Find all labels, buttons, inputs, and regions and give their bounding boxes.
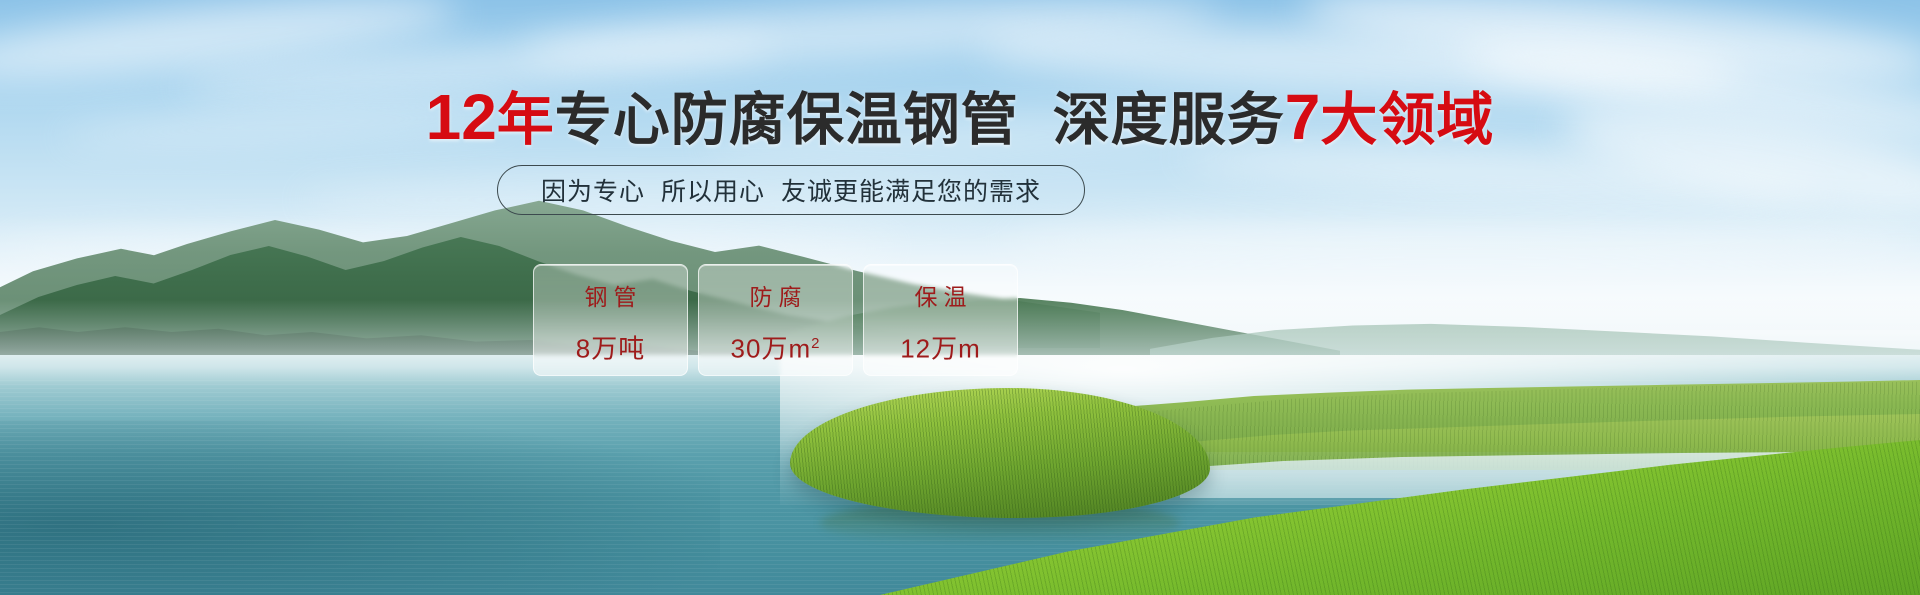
subtitle-pill: 因为专心所以用心友诚更能满足您的需求	[497, 165, 1085, 215]
headline-service-text: 深度服务	[1053, 88, 1285, 152]
subtitle-part-2: 所以用心	[661, 172, 765, 208]
stat-card-value-superscript: 2	[811, 335, 820, 352]
stat-card-value-text: 8万吨	[576, 334, 645, 364]
headline-fields-text: 大领域	[1320, 88, 1494, 152]
headline-years-number: 12	[426, 81, 497, 153]
stat-card-anticorrosion: 防腐 30万m2	[698, 264, 853, 376]
headline-years-unit: 年	[497, 88, 555, 152]
headline-fields-number: 7	[1285, 81, 1321, 153]
subtitle-part-3: 友诚更能满足您的需求	[781, 172, 1041, 208]
hero-banner: 12年专心防腐保温钢管深度服务7大领域 因为专心所以用心友诚更能满足您的需求 钢…	[0, 0, 1920, 595]
headline-main-text: 专心防腐保温钢管	[555, 88, 1019, 152]
stat-card-insulation: 保温 12万m	[863, 264, 1018, 376]
stat-card-value-text: 30万m	[731, 334, 812, 364]
stat-card-value: 12万m	[900, 329, 981, 364]
stat-card-steel-pipe: 钢管 8万吨	[533, 264, 688, 376]
banner-headline: 12年专心防腐保温钢管深度服务7大领域	[0, 86, 1920, 151]
stat-card-value-text: 12万m	[900, 334, 981, 364]
stat-card-label: 防腐	[744, 283, 808, 311]
stat-card-label: 钢管	[579, 283, 643, 311]
stat-card-group: 钢管 8万吨 防腐 30万m2 保温 12万m	[533, 264, 1018, 376]
stat-card-value: 8万吨	[576, 329, 645, 364]
stat-card-label: 保温	[909, 283, 973, 311]
stat-card-value: 30万m2	[731, 329, 821, 364]
subtitle-part-1: 因为专心	[541, 172, 645, 208]
